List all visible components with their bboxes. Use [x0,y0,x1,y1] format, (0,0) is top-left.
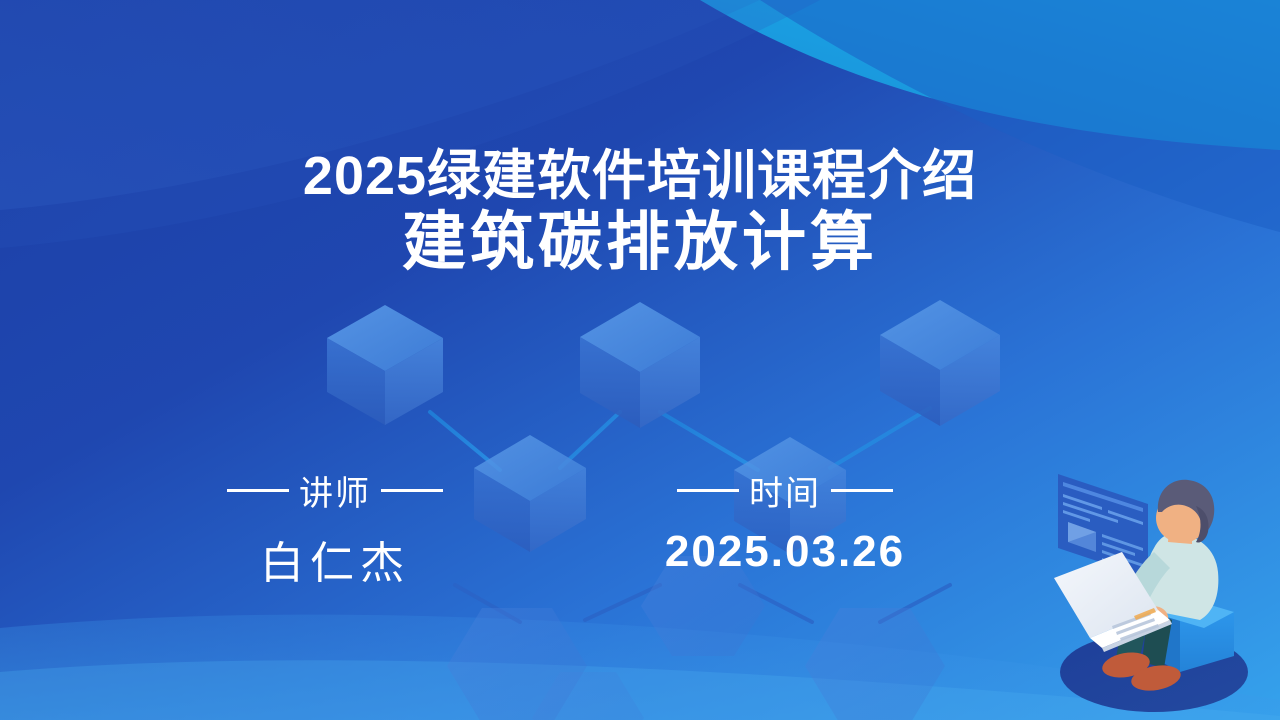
speaker-label-row: 讲师 [170,466,500,515]
content-layer: 2025绿建软件培训课程介绍 建筑碳排放计算 讲师 白仁杰 时间 2025.03… [0,0,1280,720]
rule-right-icon [831,489,893,492]
speaker-block: 讲师 白仁杰 [170,466,500,591]
rule-right-icon [381,489,443,492]
time-label: 时间 [749,466,821,515]
title-block: 2025绿建软件培训课程介绍 建筑碳排放计算 [0,148,1280,279]
meta-row: 讲师 白仁杰 时间 2025.03.26 [0,466,1280,591]
time-label-row: 时间 [620,466,950,515]
time-value: 2025.03.26 [620,527,950,577]
speaker-name: 白仁杰 [170,527,500,591]
course-series-title: 2025绿建软件培训课程介绍 [0,148,1280,205]
speaker-label: 讲师 [299,466,371,515]
rule-left-icon [227,489,289,492]
rule-left-icon [677,489,739,492]
slide-canvas: 2025绿建软件培训课程介绍 建筑碳排放计算 讲师 白仁杰 时间 2025.03… [0,0,1280,720]
time-block: 时间 2025.03.26 [620,466,950,591]
course-main-title: 建筑碳排放计算 [0,207,1280,279]
